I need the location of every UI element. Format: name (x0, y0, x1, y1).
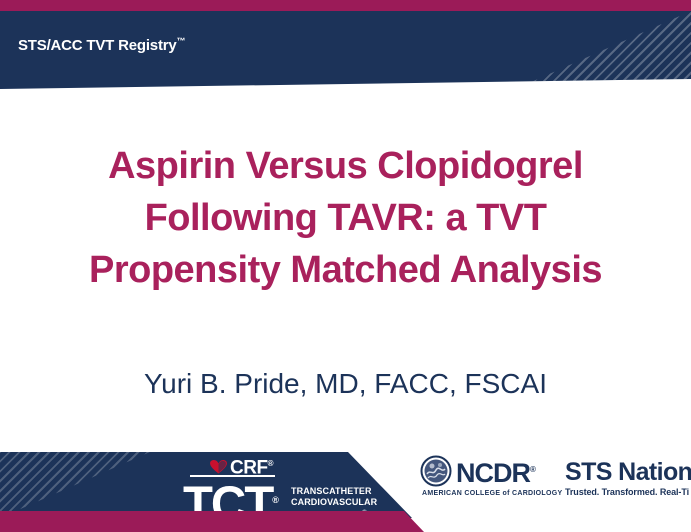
presentation-slide: STS/ACC TVT Registry™ Aspirin Versus Clo… (0, 0, 691, 532)
crf-logo: CRF® (143, 454, 273, 477)
title-line-3: Propensity Matched Analysis (0, 244, 691, 296)
ncdr-name-text: NCDR (456, 458, 530, 488)
ncdr-registered-mark: ® (530, 465, 536, 474)
title-line-2: Following TAVR: a TVT (0, 192, 691, 244)
sts-tagline: Trusted. Transformed. Real-Ti (565, 487, 691, 497)
header-diagonal-hatch-pattern (511, 11, 691, 91)
title-line-1: Aspirin Versus Clopidogrel (0, 140, 691, 192)
ncdr-logo: NCDR® AMERICAN COLLEGE of CARDIOLOGY (420, 455, 560, 505)
trademark-symbol: ™ (177, 36, 186, 46)
tct-tagline-line-1: TRANSCATHETER (291, 486, 377, 497)
bottom-accent-bar (0, 511, 691, 532)
ncdr-wordmark: NCDR® (456, 456, 536, 487)
tct-tagline-line-2: CARDIOVASCULAR (291, 497, 377, 508)
page-title: Aspirin Versus Clopidogrel Following TAV… (0, 140, 691, 296)
ncdr-subtitle: AMERICAN COLLEGE of CARDIOLOGY (422, 490, 560, 497)
registry-label-text: STS/ACC TVT Registry (18, 37, 177, 54)
sts-national-logo: STS National Trusted. Transformed. Real-… (565, 459, 691, 504)
crf-tct-logo: CRF® TCT® TRANSCATHETER CARDIOVASCULAR T… (143, 454, 373, 518)
sts-wordmark: STS National (565, 459, 691, 485)
top-accent-bar (0, 0, 691, 11)
crf-wordmark: CRF® (230, 454, 273, 477)
ncdr-seal-icon (420, 455, 452, 487)
footer-diagonal-hatch-pattern (0, 452, 150, 518)
tct-registered-mark: ® (272, 495, 279, 505)
registry-branding-label: STS/ACC TVT Registry™ (18, 36, 185, 54)
ncdr-logo-row: NCDR® (420, 455, 560, 487)
crf-heart-icon (209, 459, 228, 474)
crf-registered-mark: ® (268, 459, 273, 468)
presenter-name: Yuri B. Pride, MD, FACC, FSCAI (0, 368, 691, 400)
